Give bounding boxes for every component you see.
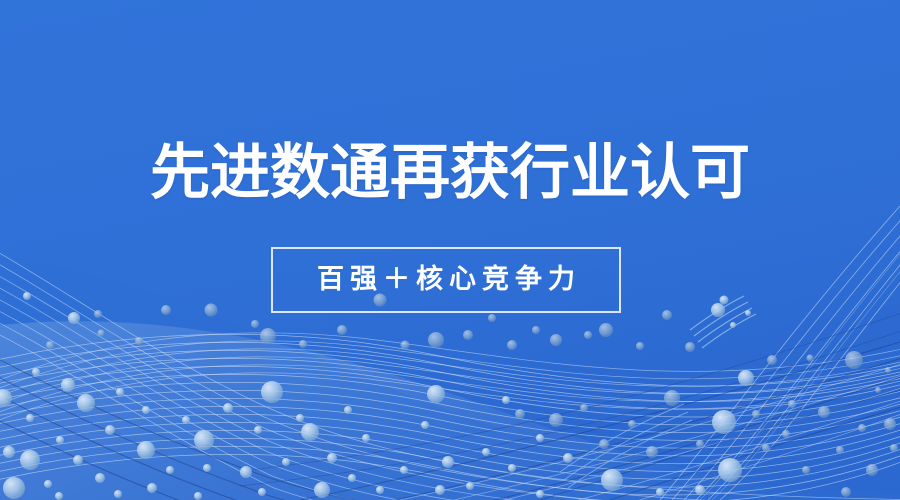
subtitle-text: 百强＋核心竞争力 bbox=[311, 264, 581, 296]
banner-content: 先进数通再获行业认可 百强＋核心竞争力 bbox=[0, 0, 900, 500]
subtitle-badge: 百强＋核心竞争力 bbox=[271, 247, 621, 313]
page-title: 先进数通再获行业认可 bbox=[0, 136, 900, 210]
promo-banner: 先进数通再获行业认可 百强＋核心竞争力 bbox=[0, 0, 900, 500]
